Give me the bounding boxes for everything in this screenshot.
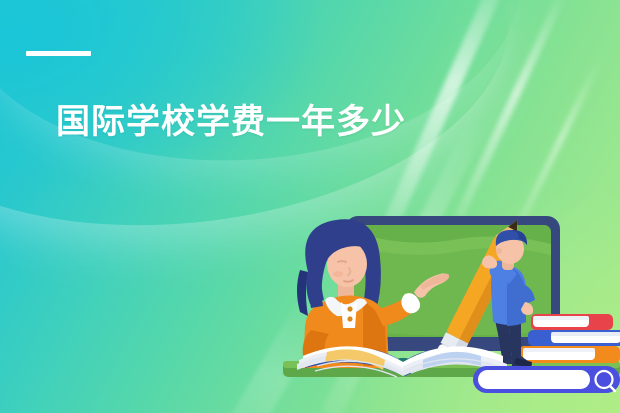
- page-title: 国际学校学费一年多少: [56, 101, 406, 143]
- book-orange: [519, 346, 620, 363]
- book-red: [531, 314, 613, 330]
- search-bar-graphic[interactable]: [473, 366, 620, 393]
- book-blue: [528, 330, 620, 346]
- online-education-illustration: [283, 206, 620, 413]
- book-stack: [519, 314, 620, 363]
- accent-rule: [26, 51, 91, 56]
- banner-image: 国际学校学费一年多少: [0, 0, 620, 413]
